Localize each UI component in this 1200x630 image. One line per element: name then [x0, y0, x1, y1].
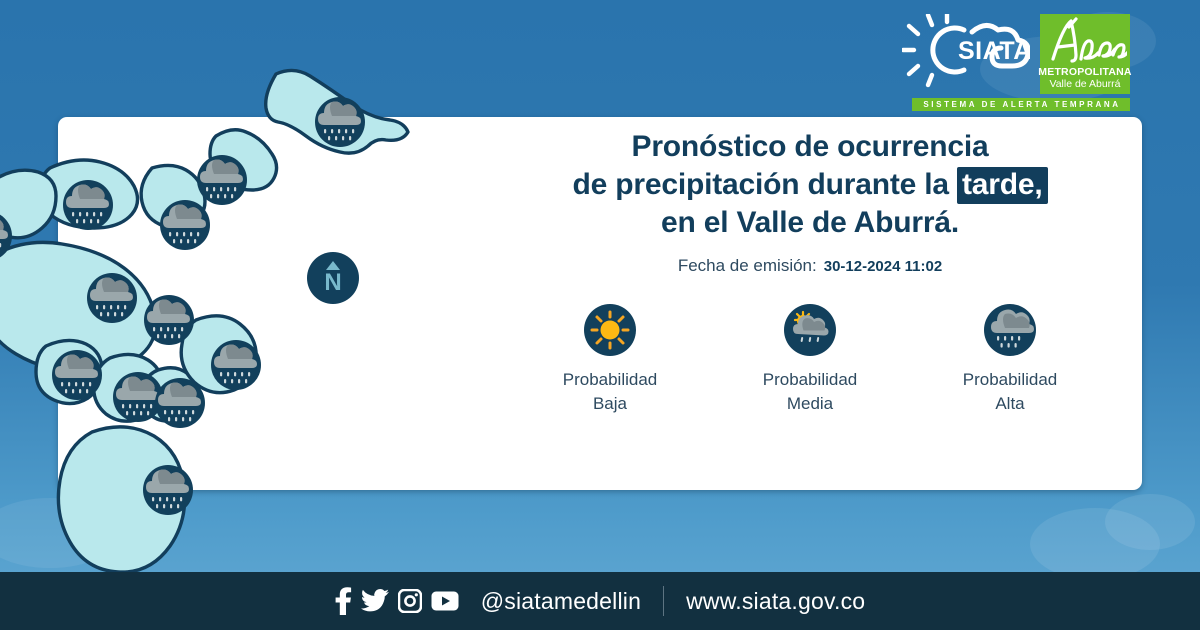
valle-de-aburra-map: N [40, 40, 480, 600]
marker-envigado [113, 372, 163, 422]
marker-medellin-centro [144, 295, 194, 345]
legend-baja-line1: Probabilidad [563, 370, 658, 389]
footer-bar: @siatamedellin www.siata.gov.co [0, 572, 1200, 630]
legend-baja-line2: Baja [593, 394, 627, 413]
siata-logo: SIATA [902, 14, 1030, 88]
social-icons [335, 587, 459, 615]
sun-cloud-rain-icon [784, 304, 836, 356]
legend-item-media: Probabilidad Media [720, 304, 900, 416]
sun-icon [584, 304, 636, 356]
infographic-canvas: SIATA METROPOLITANA Valle de Aburrá [0, 0, 1200, 630]
legend-label-alta: Probabilidad Alta [963, 368, 1058, 416]
legend-label-media: Probabilidad Media [763, 368, 858, 416]
marker-itagui [52, 350, 102, 400]
instagram-icon[interactable] [398, 589, 422, 613]
cloud-rain-icon [984, 304, 1036, 356]
legend-media-line2: Media [787, 394, 833, 413]
footer-divider [663, 586, 664, 616]
emission-label: Fecha de emisión: [678, 256, 817, 276]
twitter-icon[interactable] [361, 589, 389, 613]
marker-la-estrella [211, 340, 261, 390]
title-line-2-text: de precipitación durante la [573, 168, 958, 201]
legend-alta-line2: Alta [995, 394, 1024, 413]
siata-tagline: SISTEMA DE ALERTA TEMPRANA [912, 98, 1130, 111]
legend-item-alta: Probabilidad Alta [920, 304, 1100, 416]
legend-media-line1: Probabilidad [763, 370, 858, 389]
area-script-icon [1043, 15, 1127, 67]
compass-rose: N [307, 252, 359, 304]
legend-label-baja: Probabilidad Baja [563, 368, 658, 416]
page-title: Pronóstico de ocurrencia de precipitació… [573, 128, 1048, 242]
facebook-icon[interactable] [335, 587, 352, 615]
title-highlight-tarde: tarde, [957, 167, 1048, 204]
title-line-1: Pronóstico de ocurrencia [573, 128, 1048, 166]
area-line2: Valle de Aburrá [1049, 78, 1120, 90]
legend-alta-line1: Probabilidad [963, 370, 1058, 389]
social-handle[interactable]: @siatamedellin [481, 588, 641, 615]
marker-barbosa [315, 97, 365, 147]
forecast-panel: Pronóstico de ocurrencia de precipitació… [480, 128, 1140, 416]
marker-copacabana [160, 200, 210, 250]
logo-row: SIATA METROPOLITANA Valle de Aburrá [902, 14, 1130, 94]
marker-caldas [143, 465, 193, 515]
compass-north-label: N [324, 269, 341, 296]
marker-sabaneta [155, 378, 205, 428]
title-line-2: de precipitación durante la tarde, [573, 166, 1048, 204]
marker-girardota [197, 155, 247, 205]
background-cloud-4 [1105, 494, 1195, 550]
marker-bello [63, 180, 113, 230]
emission-value: 30-12-2024 11:02 [824, 258, 942, 275]
marker-medellin-norte [87, 273, 137, 323]
area-metropolitana-logo: METROPOLITANA Valle de Aburrá [1040, 14, 1130, 94]
website-url[interactable]: www.siata.gov.co [686, 588, 865, 615]
title-line-3: en el Valle de Aburrá. [573, 204, 1048, 242]
brand-logos: SIATA METROPOLITANA Valle de Aburrá [902, 14, 1130, 111]
youtube-icon[interactable] [431, 591, 459, 611]
probability-legend: Probabilidad Baja [510, 304, 1110, 416]
emission-date: Fecha de emisión: 30-12-2024 11:02 [678, 256, 942, 276]
siata-wordmark: SIATA [958, 37, 1030, 65]
area-line1: METROPOLITANA [1038, 67, 1131, 78]
legend-item-baja: Probabilidad Baja [520, 304, 700, 416]
